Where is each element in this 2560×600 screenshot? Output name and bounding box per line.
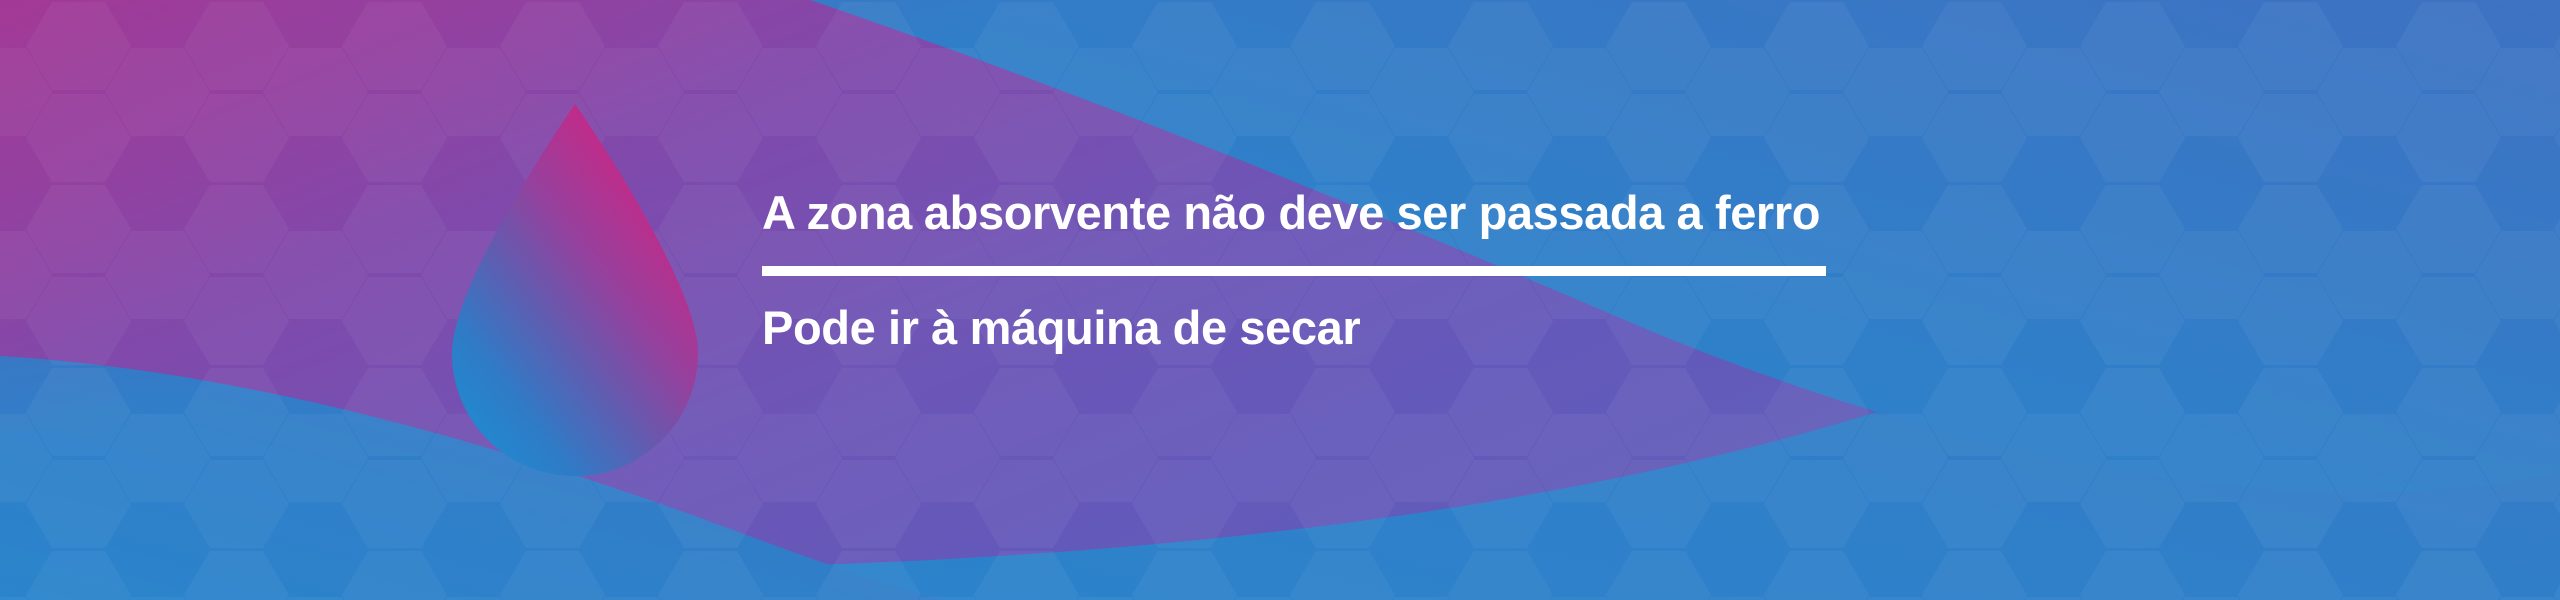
divider-rule [762, 266, 1826, 276]
instruction-line-ironing: A zonaabsorvente não deve ser passada a … [762, 185, 2162, 241]
instruction-line-ironing-part1: A zona [762, 186, 912, 239]
instruction-line-ironing-part2: absorvente não deve ser passada a ferro [924, 186, 1820, 239]
care-instructions-text: A zonaabsorvente não deve ser passada a … [762, 185, 2162, 356]
care-instructions-banner: A zonaabsorvente não deve ser passada a … [0, 0, 2560, 600]
instruction-line-tumble-dry: Pode ir à máquina de secar [762, 300, 2162, 356]
water-droplet-icon [452, 104, 698, 476]
